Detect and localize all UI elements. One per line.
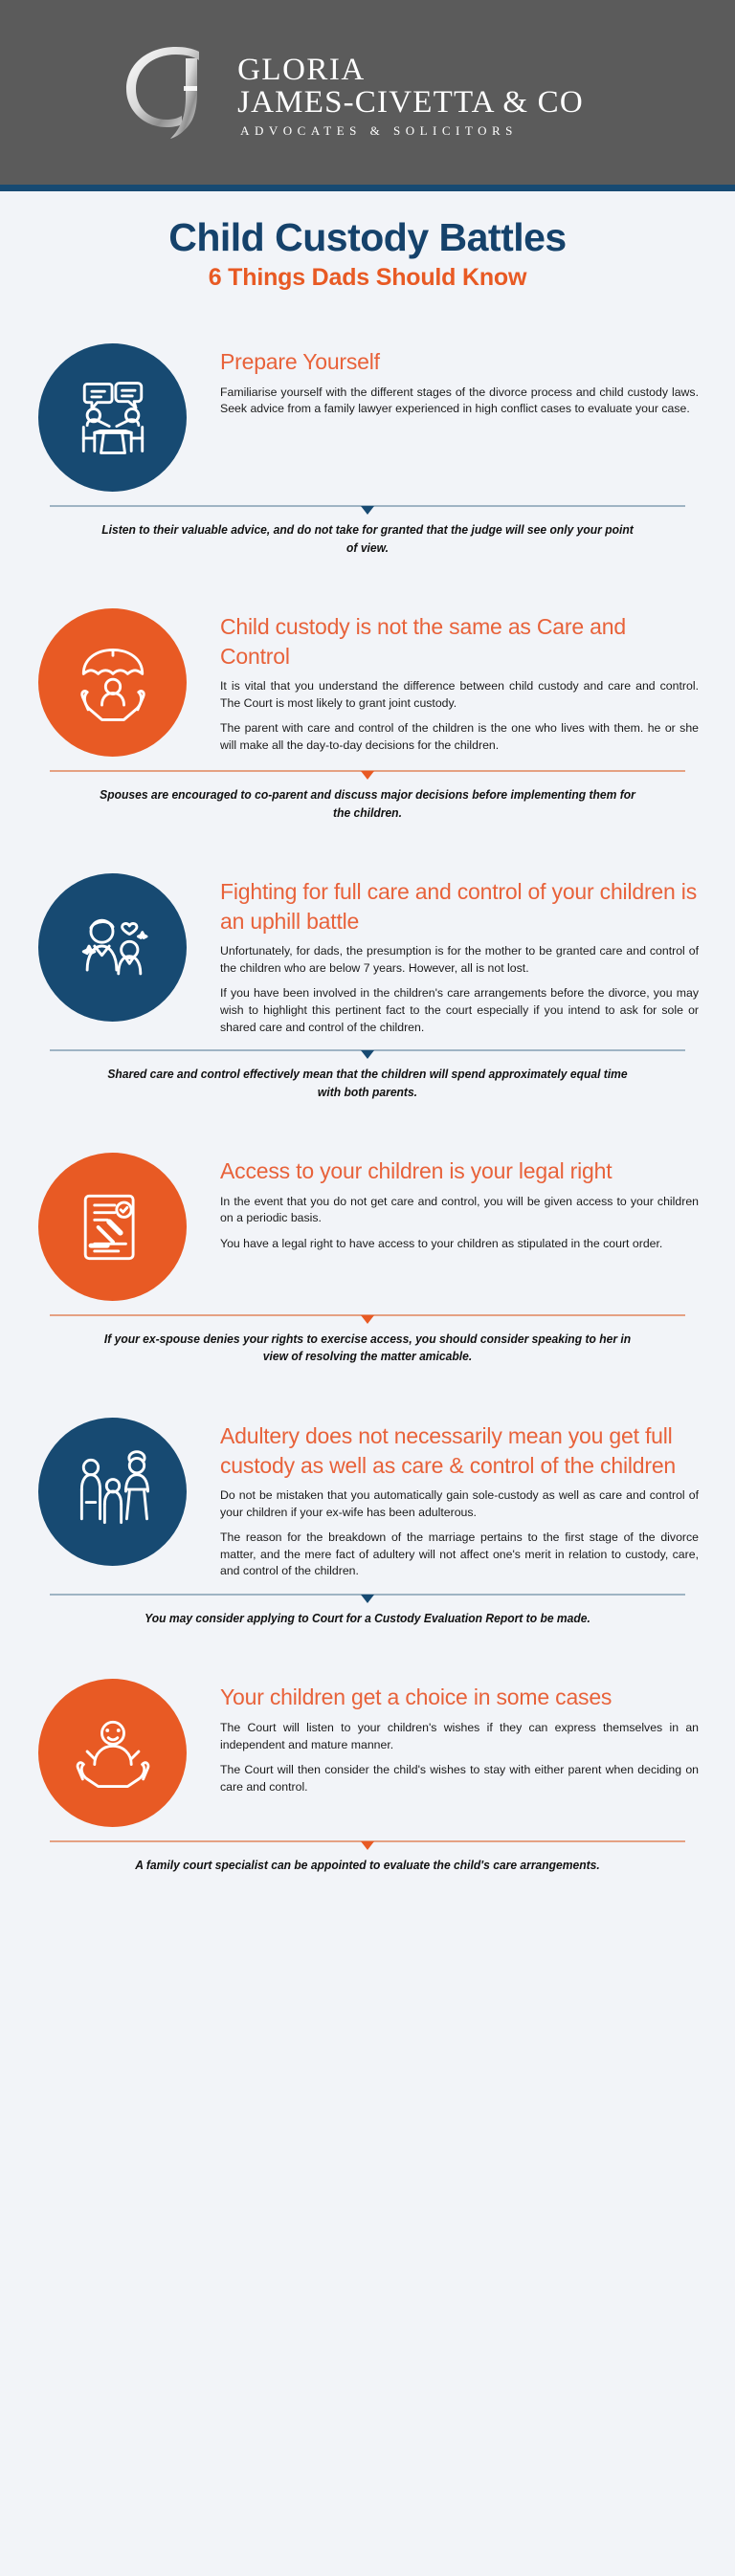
section-3-quote: Shared care and control effectively mean… <box>72 1066 663 1101</box>
section-1-divider <box>50 505 685 507</box>
section-5-icon-column <box>38 1416 220 1566</box>
section-4-paragraph-2: You have a legal right to have access to… <box>220 1236 699 1253</box>
section-4-divider <box>50 1314 685 1316</box>
section-4-text: Access to your children is your legal ri… <box>220 1151 699 1252</box>
section-6: Your children get a choice in some cases… <box>0 1677 735 1827</box>
chevron-down-icon <box>361 1595 374 1603</box>
section-2-title: Child custody is not the same as Care an… <box>220 612 699 671</box>
section-5: Adultery does not necessarily mean you g… <box>0 1416 735 1580</box>
chevron-down-icon <box>361 771 374 780</box>
section-1-text: Prepare Yourself Familiarise yourself wi… <box>220 341 699 418</box>
section-1-separator-block: Listen to their valuable advice, and do … <box>0 505 735 557</box>
section-4: Access to your children is your legal ri… <box>0 1151 735 1301</box>
chevron-down-icon <box>361 1050 374 1059</box>
section-4-paragraph-1: In the event that you do not get care an… <box>220 1194 699 1227</box>
section-1-paragraph-1: Familiarise yourself with the different … <box>220 385 699 418</box>
section-1-icon-column <box>38 341 220 492</box>
section-1: Prepare Yourself Familiarise yourself wi… <box>0 341 735 492</box>
page-subtitle: 6 Things Dads Should Know <box>0 264 735 292</box>
section-6-separator-block: A family court specialist can be appoint… <box>0 1840 735 1874</box>
section-4-quote: If your ex-spouse denies your rights to … <box>72 1331 663 1366</box>
chevron-down-icon <box>361 1315 374 1324</box>
gloria-g-monogram-icon <box>117 33 232 158</box>
section-1-title: Prepare Yourself <box>220 347 699 377</box>
sections-list: Prepare Yourself Familiarise yourself wi… <box>0 292 735 1875</box>
section-3: Fighting for full care and control of yo… <box>0 871 735 1036</box>
section-3-paragraph-1: Unfortunately, for dads, the presumption… <box>220 943 699 977</box>
section-6-icon-column <box>38 1677 220 1827</box>
infographic-titles: Child Custody Battles 6 Things Dads Shou… <box>0 191 735 292</box>
page-header: GLORIA JAMES-CIVETTA & CO ADVOCATES & SO… <box>0 0 735 191</box>
firm-logo: GLORIA JAMES-CIVETTA & CO ADVOCATES & SO… <box>117 33 584 158</box>
section-6-paragraph-2: The Court will then consider the child's… <box>220 1762 699 1795</box>
child-in-hands-icon <box>38 1679 187 1827</box>
firm-name-line2: JAMES-CIVETTA & CO <box>237 87 584 119</box>
section-6-quote: A family court specialist can be appoint… <box>72 1857 663 1874</box>
section-6-divider <box>50 1840 685 1842</box>
mediation-table-icon <box>38 343 187 492</box>
page-title: Child Custody Battles <box>0 216 735 258</box>
section-5-paragraph-2: The reason for the breakdown of the marr… <box>220 1530 699 1580</box>
section-1-quote: Listen to their valuable advice, and do … <box>72 521 663 557</box>
section-5-quote: You may consider applying to Court for a… <box>72 1610 663 1627</box>
family-separation-icon <box>38 1418 187 1566</box>
section-3-separator-block: Shared care and control effectively mean… <box>0 1049 735 1101</box>
section-2-icon-column <box>38 606 220 757</box>
legal-document-gavel-icon <box>38 1153 187 1301</box>
firm-tagline: ADVOCATES & SOLICITORS <box>240 124 584 137</box>
chevron-down-icon <box>361 1841 374 1850</box>
section-3-icon-column <box>38 871 220 1022</box>
section-3-paragraph-2: If you have been involved in the childre… <box>220 985 699 1036</box>
section-2-text: Child custody is not the same as Care an… <box>220 606 699 754</box>
section-2-paragraph-2: The parent with care and control of the … <box>220 720 699 754</box>
section-2-paragraph-1: It is vital that you understand the diff… <box>220 678 699 712</box>
section-2-quote: Spouses are encouraged to co-parent and … <box>72 786 663 822</box>
firm-name-line1: GLORIA <box>237 55 584 86</box>
section-3-title: Fighting for full care and control of yo… <box>220 877 699 936</box>
section-3-divider <box>50 1049 685 1051</box>
section-2: Child custody is not the same as Care an… <box>0 606 735 757</box>
section-5-divider <box>50 1594 685 1596</box>
section-6-title: Your children get a choice in some cases <box>220 1683 699 1712</box>
section-2-divider <box>50 770 685 772</box>
section-5-paragraph-1: Do not be mistaken that you automaticall… <box>220 1487 699 1521</box>
section-2-separator-block: Spouses are encouraged to co-parent and … <box>0 770 735 822</box>
father-child-heart-icon <box>38 873 187 1022</box>
section-4-icon-column <box>38 1151 220 1301</box>
section-6-paragraph-1: The Court will listen to your children's… <box>220 1720 699 1753</box>
section-4-separator-block: If your ex-spouse denies your rights to … <box>0 1314 735 1366</box>
section-4-title: Access to your children is your legal ri… <box>220 1156 699 1186</box>
section-3-text: Fighting for full care and control of yo… <box>220 871 699 1036</box>
section-5-text: Adultery does not necessarily mean you g… <box>220 1416 699 1580</box>
section-6-text: Your children get a choice in some cases… <box>220 1677 699 1795</box>
firm-name: GLORIA JAMES-CIVETTA & CO ADVOCATES & SO… <box>237 55 584 137</box>
chevron-down-icon <box>361 506 374 515</box>
umbrella-protection-hands-icon <box>38 608 187 757</box>
section-5-separator-block: You may consider applying to Court for a… <box>0 1594 735 1627</box>
section-5-title: Adultery does not necessarily mean you g… <box>220 1421 699 1480</box>
